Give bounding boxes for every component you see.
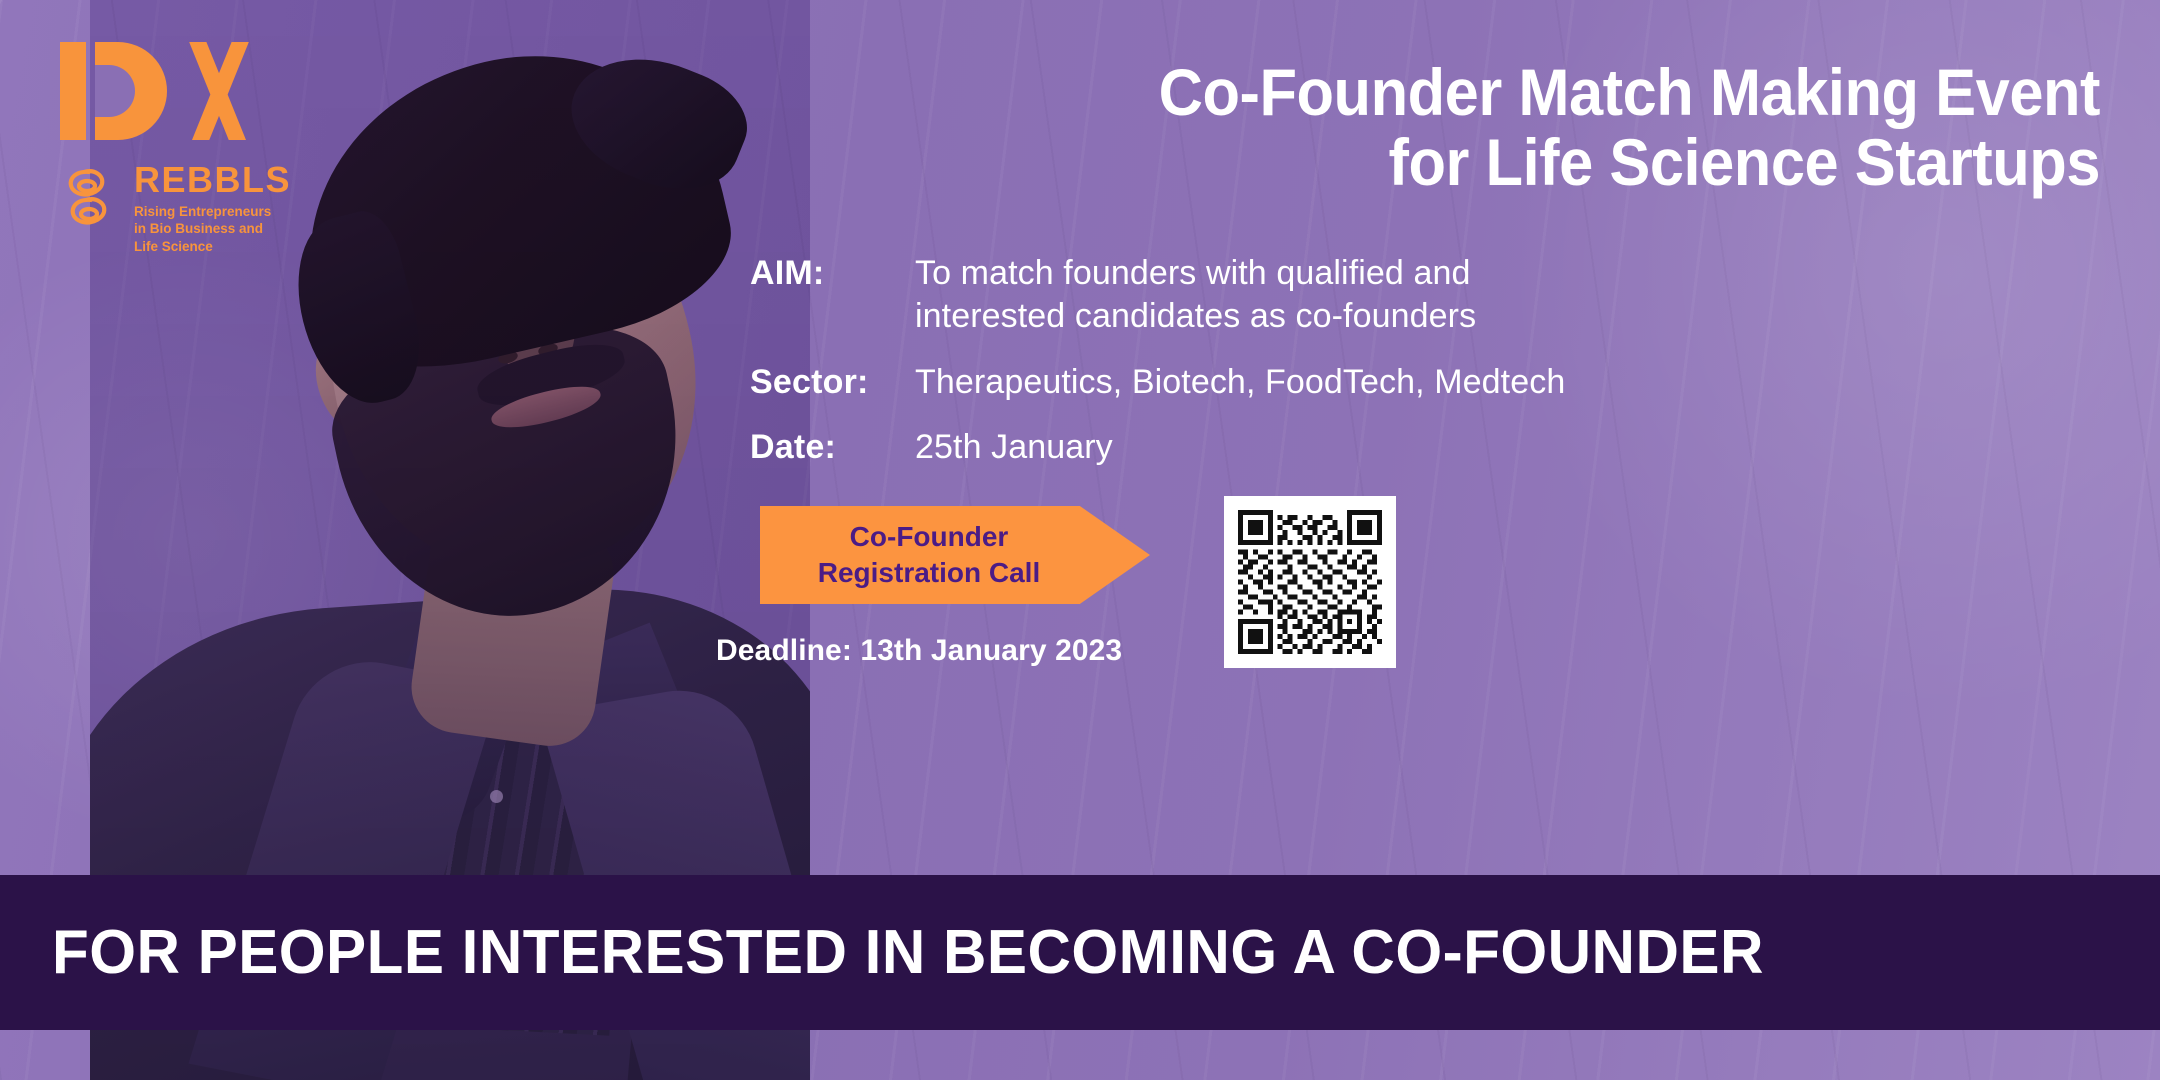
detail-label: Date: bbox=[750, 426, 915, 470]
detail-value: Therapeutics, Biotech, FoodTech, Medtech bbox=[915, 361, 1565, 405]
cta-line-2: Registration Call bbox=[818, 556, 1040, 590]
rebbls-logo: REBBLS Rising Entrepreneurs in Bio Busin… bbox=[60, 162, 291, 255]
rebbls-tagline: Rising Entrepreneurs in Bio Business and… bbox=[134, 203, 291, 255]
logo-group: REBBLS Rising Entrepreneurs in Bio Busin… bbox=[60, 40, 291, 255]
footer-bar: FOR PEOPLE INTERESTED IN BECOMING A CO-F… bbox=[0, 875, 2160, 1030]
cta-area: Co-Founder Registration Call Deadline: 1… bbox=[760, 496, 2100, 668]
rebbls-helix-icon bbox=[60, 162, 122, 238]
detail-row-aim: AIM: To match founders with qualified an… bbox=[750, 252, 2100, 339]
cta-line-1: Co-Founder bbox=[850, 520, 1009, 554]
qr-code-icon[interactable] bbox=[1238, 510, 1382, 654]
ida-letter-d bbox=[95, 42, 167, 140]
ida-letter-i bbox=[60, 42, 86, 140]
detail-value: 25th January bbox=[915, 426, 1113, 470]
co-founder-registration-call-button[interactable]: Co-Founder Registration Call bbox=[760, 506, 1150, 604]
detail-label: AIM: bbox=[750, 252, 915, 296]
event-title: Co-Founder Match Making Event for Life S… bbox=[854, 0, 2100, 198]
content-column: Co-Founder Match Making Event for Life S… bbox=[760, 0, 2100, 668]
rebbls-name: REBBLS bbox=[134, 162, 291, 198]
detail-row-date: Date: 25th January bbox=[750, 426, 2100, 470]
ida-letter-a bbox=[176, 42, 262, 140]
ida-logo-icon bbox=[60, 40, 291, 140]
footer-text: FOR PEOPLE INTERESTED IN BECOMING A CO-F… bbox=[52, 917, 1764, 988]
event-details-list: AIM: To match founders with qualified an… bbox=[750, 252, 2100, 470]
detail-label: Sector: bbox=[750, 361, 915, 405]
deadline-text: Deadline: 13th January 2023 bbox=[716, 634, 1150, 668]
cta-column: Co-Founder Registration Call Deadline: 1… bbox=[760, 496, 1150, 668]
shirt-button bbox=[490, 790, 503, 803]
detail-value: To match founders with qualified and int… bbox=[915, 252, 1476, 339]
qr-code-frame[interactable] bbox=[1224, 496, 1396, 668]
detail-row-sector: Sector: Therapeutics, Biotech, FoodTech,… bbox=[750, 361, 2100, 405]
event-banner: REBBLS Rising Entrepreneurs in Bio Busin… bbox=[0, 0, 2160, 1080]
